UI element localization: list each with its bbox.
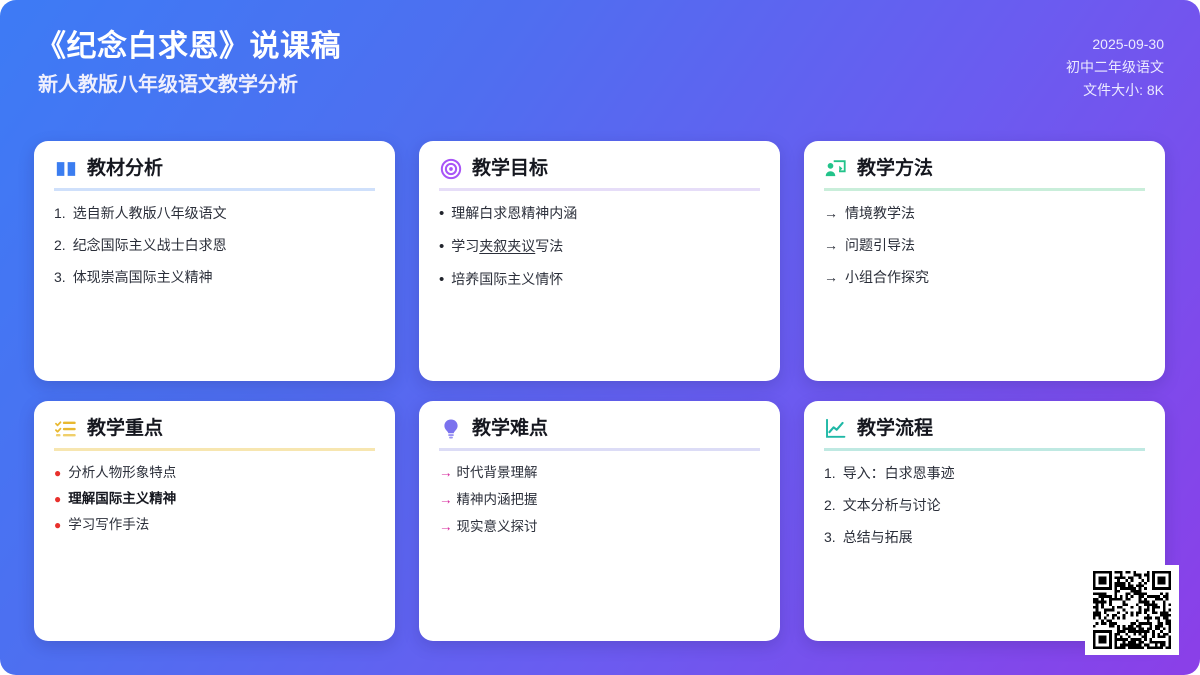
page-title: 《纪念白求恩》说课稿 xyxy=(36,28,341,66)
card-list: • 理解白求恩精神内涵 • 学习夹叙夹议写法 • 培养国际主义情怀 xyxy=(439,204,760,291)
list-marker: → xyxy=(439,518,453,536)
qr-code[interactable] xyxy=(1085,565,1179,655)
list-marker: • xyxy=(439,237,444,257)
card-header: 教学难点 xyxy=(439,418,760,451)
list-text: 精神内涵把握 xyxy=(457,491,538,509)
card-header: 教学方法 xyxy=(824,158,1145,191)
list-marker: 1. xyxy=(54,204,66,223)
list-item: → 精神内涵把握 xyxy=(439,491,760,509)
list-text: 理解国际主义精神 xyxy=(68,490,176,508)
list-marker: → xyxy=(824,236,838,255)
list-item: ● 学习写作手法 xyxy=(54,516,375,534)
list-marker: ● xyxy=(54,467,61,479)
list-text: 分析人物形象特点 xyxy=(68,464,176,482)
card-header: 教材分析 xyxy=(54,158,375,191)
lightbulb-icon xyxy=(439,418,463,440)
list-item: ● 理解国际主义精神 xyxy=(54,490,375,508)
list-text: 选自新人教版八年级语文 xyxy=(73,204,227,223)
card-teaching-focus[interactable]: 教学重点 ● 分析人物形象特点 ● 理解国际主义精神 ● 学习写作手法 xyxy=(34,401,395,641)
card-title: 教材分析 xyxy=(87,158,163,181)
card-body: 1. 选自新人教版八年级语文 2. 纪念国际主义战士白求恩 3. 体现崇高国际主… xyxy=(54,191,375,287)
card-grid: 教材分析 1. 选自新人教版八年级语文 2. 纪念国际主义战士白求恩 3. 体现… xyxy=(34,141,1166,641)
list-item: 2. 纪念国际主义战士白求恩 xyxy=(54,236,375,255)
card-header: 教学流程 xyxy=(824,418,1145,451)
card-header: 教学重点 xyxy=(54,418,375,451)
header-title-group: 《纪念白求恩》说课稿 新人教版八年级语文教学分析 xyxy=(36,22,341,98)
card-list: ● 分析人物形象特点 ● 理解国际主义精神 ● 学习写作手法 xyxy=(54,464,375,535)
list-text: 情境教学法 xyxy=(845,204,915,223)
list-text: 纪念国际主义战士白求恩 xyxy=(73,236,227,255)
list-text: 导入：白求恩事迹 xyxy=(843,464,955,483)
list-item: → 小组合作探究 xyxy=(824,268,1145,287)
list-marker: 3. xyxy=(54,268,66,287)
list-text: 培养国际主义情怀 xyxy=(451,270,563,289)
list-marker: 3. xyxy=(824,528,836,547)
card-body: → 情境教学法 → 问题引导法 → 小组合作探究 xyxy=(824,191,1145,287)
card-title: 教学流程 xyxy=(857,418,933,441)
card-list: 1. 导入：白求恩事迹 2. 文本分析与讨论 3. 总结与拓展 xyxy=(824,464,1145,547)
meta-date: 2025-09-30 xyxy=(1092,36,1164,52)
list-text: 学习夹叙夹议写法 xyxy=(451,237,563,256)
list-text: 理解白求恩精神内涵 xyxy=(451,204,577,223)
card-header: 教学目标 xyxy=(439,158,760,191)
list-item: • 理解白求恩精神内涵 xyxy=(439,204,760,224)
slide-canvas: 《纪念白求恩》说课稿 新人教版八年级语文教学分析 2025-09-30 初中二年… xyxy=(0,0,1200,675)
meta-filesize: 文件大小: 8K xyxy=(1083,82,1164,98)
list-item: 1. 选自新人教版八年级语文 xyxy=(54,204,375,223)
list-marker: ● xyxy=(54,493,61,505)
list-text: 时代背景理解 xyxy=(457,464,538,482)
card-body: • 理解白求恩精神内涵 • 学习夹叙夹议写法 • 培养国际主义情怀 xyxy=(439,191,760,291)
qr-code-image xyxy=(1091,571,1173,649)
list-marker: 2. xyxy=(54,236,66,255)
list-text: 现实意义探讨 xyxy=(457,518,538,536)
list-marker: 1. xyxy=(824,464,836,483)
list-item: 3. 体现崇高国际主义精神 xyxy=(54,268,375,287)
card-body: ● 分析人物形象特点 ● 理解国际主义精神 ● 学习写作手法 xyxy=(54,451,375,535)
list-item: → 时代背景理解 xyxy=(439,464,760,482)
card-list: 1. 选自新人教版八年级语文 2. 纪念国际主义战士白求恩 3. 体现崇高国际主… xyxy=(54,204,375,287)
card-list: → 情境教学法 → 问题引导法 → 小组合作探究 xyxy=(824,204,1145,287)
card-teaching-methods[interactable]: 教学方法 → 情境教学法 → 问题引导法 → 小组合作探究 xyxy=(804,141,1165,381)
list-item: → 现实意义探讨 xyxy=(439,518,760,536)
list-text: 文本分析与讨论 xyxy=(843,496,941,515)
list-item: ● 分析人物形象特点 xyxy=(54,464,375,482)
card-textbook-analysis[interactable]: 教材分析 1. 选自新人教版八年级语文 2. 纪念国际主义战士白求恩 3. 体现… xyxy=(34,141,395,381)
list-marker: → xyxy=(824,204,838,223)
list-text: 总结与拓展 xyxy=(843,528,913,547)
list-marker: → xyxy=(439,491,453,509)
list-marker: 2. xyxy=(824,496,836,515)
checklist-icon xyxy=(54,418,78,440)
card-title: 教学难点 xyxy=(472,418,548,441)
card-title: 教学重点 xyxy=(87,418,163,441)
slide-header: 《纪念白求恩》说课稿 新人教版八年级语文教学分析 2025-09-30 初中二年… xyxy=(0,0,1200,122)
card-list: → 时代背景理解 → 精神内涵把握 → 现实意义探讨 xyxy=(439,464,760,537)
teacher-board-icon xyxy=(824,158,848,180)
card-body: → 时代背景理解 → 精神内涵把握 → 现实意义探讨 xyxy=(439,451,760,537)
list-text: 问题引导法 xyxy=(845,236,915,255)
card-body: 1. 导入：白求恩事迹 2. 文本分析与讨论 3. 总结与拓展 xyxy=(824,451,1145,547)
list-marker: ● xyxy=(54,519,61,531)
card-teaching-difficulty[interactable]: 教学难点 → 时代背景理解 → 精神内涵把握 → 现实意义探讨 xyxy=(419,401,780,641)
list-item: 2. 文本分析与讨论 xyxy=(824,496,1145,515)
open-book-icon xyxy=(54,158,78,180)
list-marker: • xyxy=(439,204,444,224)
card-title: 教学目标 xyxy=(472,158,548,181)
list-marker: • xyxy=(439,270,444,290)
target-icon xyxy=(439,158,463,180)
header-meta-group: 2025-09-30 初中二年级语文 文件大小: 8K xyxy=(1066,22,1164,98)
list-marker: → xyxy=(439,464,453,482)
list-text: 体现崇高国际主义精神 xyxy=(73,268,213,287)
list-item: • 学习夹叙夹议写法 xyxy=(439,237,760,257)
list-text: 小组合作探究 xyxy=(845,268,929,287)
emphasis-underline: 夹叙夹议 xyxy=(479,238,535,254)
list-item: → 情境教学法 xyxy=(824,204,1145,223)
card-teaching-objectives[interactable]: 教学目标 • 理解白求恩精神内涵 • 学习夹叙夹议写法 • 培养国际主义情怀 xyxy=(419,141,780,381)
card-title: 教学方法 xyxy=(857,158,933,181)
list-item: → 问题引导法 xyxy=(824,236,1145,255)
list-item: • 培养国际主义情怀 xyxy=(439,270,760,290)
list-item: 3. 总结与拓展 xyxy=(824,528,1145,547)
list-text: 学习写作手法 xyxy=(68,516,149,534)
line-chart-icon xyxy=(824,418,848,440)
list-marker: → xyxy=(824,268,838,287)
list-item: 1. 导入：白求恩事迹 xyxy=(824,464,1145,483)
page-subtitle: 新人教版八年级语文教学分析 xyxy=(36,72,341,98)
meta-grade: 初中二年级语文 xyxy=(1066,59,1164,75)
